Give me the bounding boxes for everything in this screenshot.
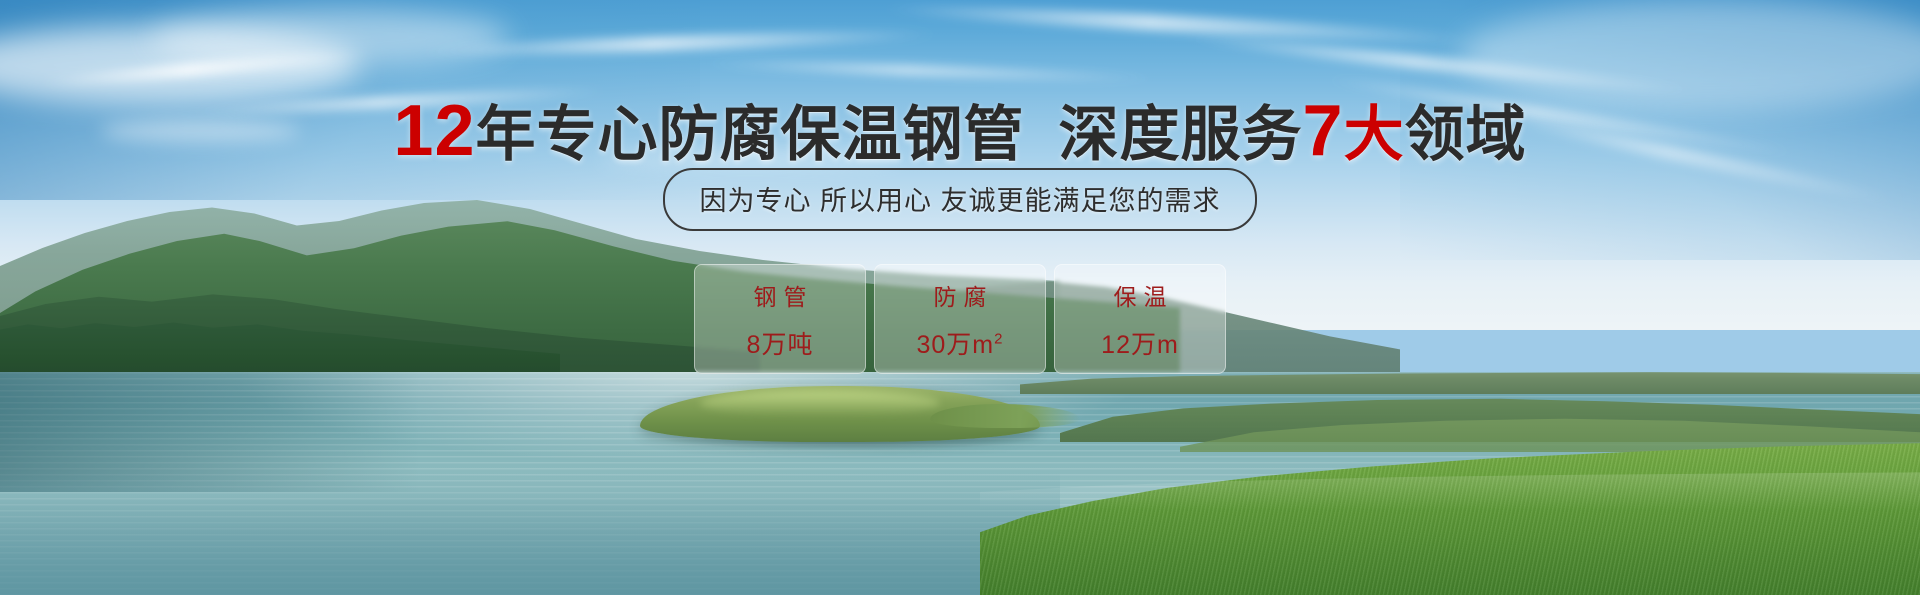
stat-card-value: 12万m [1101, 325, 1179, 361]
stat-cards-row: 钢管 8万吨 防腐 30万m2 保温 12万m [0, 264, 1920, 374]
headline-text-part4: 领域 [1405, 101, 1527, 168]
headline-fields-number: 7 [1303, 91, 1344, 171]
stat-card-value-text: 30万m [917, 331, 995, 359]
stat-card-value: 8万吨 [747, 325, 814, 361]
headline-text-part1: 年专心防腐保温钢管 [476, 101, 1025, 168]
headline-years-number: 12 [393, 91, 475, 171]
stat-card-anticorrosion[interactable]: 防腐 30万m2 [874, 264, 1046, 374]
stat-card-value-text: 8万吨 [747, 331, 814, 359]
stat-card-value: 30万m2 [917, 325, 1004, 361]
stat-card-insulation[interactable]: 保温 12万m [1054, 264, 1226, 374]
stat-card-value-text: 12万m [1101, 331, 1179, 359]
headline-text-part3: 大 [1344, 101, 1405, 168]
stat-card-value-superscript: 2 [994, 330, 1003, 347]
water-foreground-shade [0, 470, 1060, 595]
banner-headline: 12年专心防腐保温钢管深度服务7大领域 [0, 86, 1920, 173]
stat-card-label: 保温 [1107, 278, 1174, 312]
subtitle-pill: 因为专心 所以用心 友诚更能满足您的需求 [663, 168, 1256, 231]
stat-card-label: 钢管 [747, 278, 814, 312]
hero-banner: 12年专心防腐保温钢管深度服务7大领域 因为专心 所以用心 友诚更能满足您的需求… [0, 0, 1920, 595]
island-highlight [700, 390, 940, 416]
headline-text-part2: 深度服务 [1059, 101, 1303, 168]
stat-card-label: 防腐 [927, 278, 994, 312]
stat-card-steel-pipe[interactable]: 钢管 8万吨 [694, 264, 866, 374]
subtitle-wrapper: 因为专心 所以用心 友诚更能满足您的需求 [0, 168, 1920, 231]
